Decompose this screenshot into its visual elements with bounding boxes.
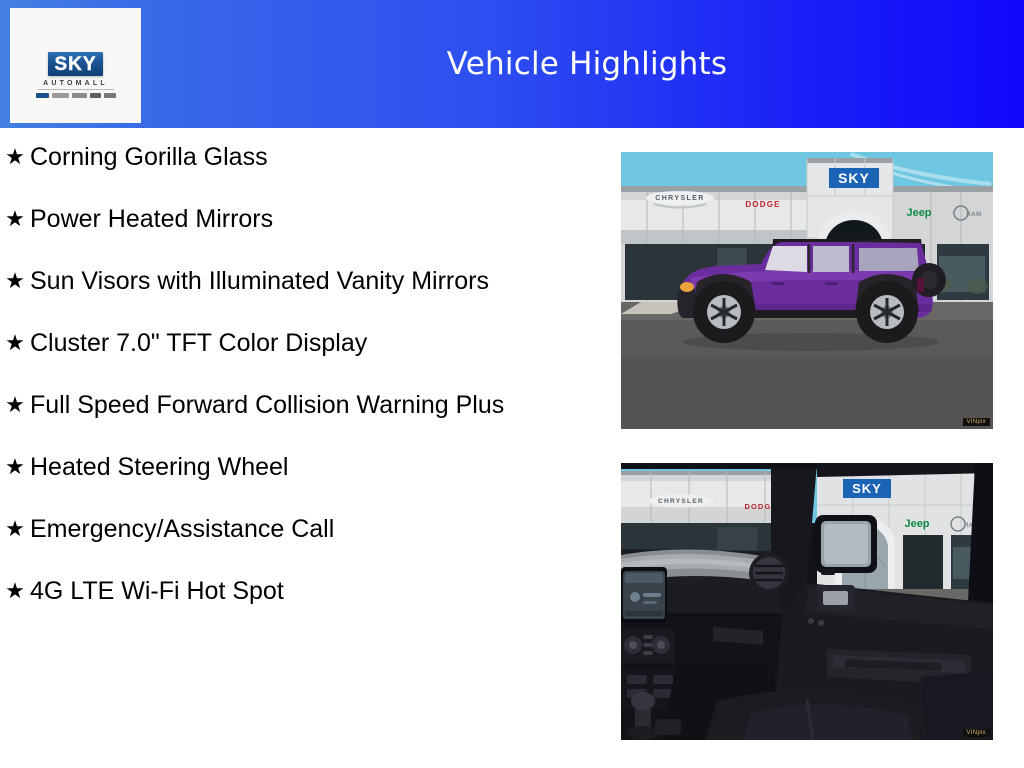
star-icon: ★ [0,140,30,176]
list-item: ★ Corning Gorilla Glass [0,140,600,176]
side-mirror [815,515,877,575]
brand-chip-dodge-icon [72,93,87,98]
list-item-label: 4G LTE Wi-Fi Hot Spot [30,574,284,609]
infotainment-screen [621,567,667,623]
svg-text:CHRYSLER: CHRYSLER [658,498,704,505]
brand-chip-jeep-icon [90,93,101,98]
list-item-label: Heated Steering Wheel [30,450,288,485]
list-item-label: Power Heated Mirrors [30,202,273,237]
chrysler-sign-icon: CHRYSLER [649,495,713,508]
svg-text:Jeep: Jeep [906,207,931,219]
star-icon: ★ [0,326,30,362]
brand-chip-mopar-icon [36,93,49,98]
svg-text:RAM: RAM [966,212,981,218]
list-item: ★ Emergency/Assistance Call [0,512,600,548]
brand-strip [10,92,141,99]
page-header: SKY AUTOMALL Vehicle Highlights [0,0,1024,128]
list-item-label: Cluster 7.0" TFT Color Display [30,326,367,361]
logo-divider [38,89,114,90]
list-item: ★ Heated Steering Wheel [0,450,600,486]
interior-illustration: CHRYSLER DODGE SKY Jeep [621,463,993,740]
sky-logo-plate: SKY [48,52,102,76]
list-item-label: Full Speed Forward Collision Warning Plu… [30,388,504,423]
vehicle-highlights-list: ★ Corning Gorilla Glass ★ Power Heated M… [0,140,600,636]
jeep-sign-icon: Jeep [904,518,929,530]
list-item-label: Sun Visors with Illuminated Vanity Mirro… [30,264,489,299]
photo-watermark: VINpix [963,729,990,737]
air-vent [749,553,789,593]
rear-wheel [856,281,918,343]
dodge-sign-icon: DODGE [745,200,780,209]
sky-sign-icon: SKY [829,168,879,188]
photo-watermark: VINpix [963,418,990,426]
brand-chip-chrysler-icon [52,93,69,98]
automall-logo-text: AUTOMALL [10,80,141,87]
brand-chip-ram-icon [104,93,116,98]
front-wheel [693,281,755,343]
jeep-sign-icon: Jeep [906,207,931,219]
dealer-logo-inner: SKY AUTOMALL [10,52,141,99]
svg-text:CHRYSLER: CHRYSLER [655,195,704,202]
climate-controls [621,629,675,663]
page-title: Vehicle Highlights [150,0,1024,128]
list-item: ★ Sun Visors with Illuminated Vanity Mir… [0,264,600,300]
list-item: ★ Cluster 7.0" TFT Color Display [0,326,600,362]
door-lock-switch [817,585,855,611]
list-item: ★ 4G LTE Wi-Fi Hot Spot [0,574,600,610]
sky-sign-icon: SKY [843,479,891,498]
star-icon: ★ [0,574,30,610]
svg-text:SKY: SKY [838,170,870,186]
star-icon: ★ [0,450,30,486]
svg-text:DODGE: DODGE [745,200,780,209]
star-icon: ★ [0,512,30,548]
vehicle-interior-photo[interactable]: CHRYSLER DODGE SKY Jeep [621,463,993,740]
list-item: ★ Power Heated Mirrors [0,202,600,238]
sky-logo-text: SKY [54,55,96,74]
star-icon: ★ [0,388,30,424]
door-speaker-screw-icon [818,620,824,626]
star-icon: ★ [0,264,30,300]
vehicle-exterior-photo[interactable]: CHRYSLER DODGE SKY [621,152,993,429]
star-icon: ★ [0,202,30,238]
list-item: ★ Full Speed Forward Collision Warning P… [0,388,600,424]
list-item-label: Corning Gorilla Glass [30,140,268,175]
door-speaker-screw-icon [808,618,814,624]
list-item-label: Emergency/Assistance Call [30,512,334,547]
dealer-logo[interactable]: SKY AUTOMALL [10,8,141,123]
svg-text:Jeep: Jeep [904,518,929,530]
svg-text:SKY: SKY [852,481,882,496]
exterior-illustration: CHRYSLER DODGE SKY [621,152,993,429]
